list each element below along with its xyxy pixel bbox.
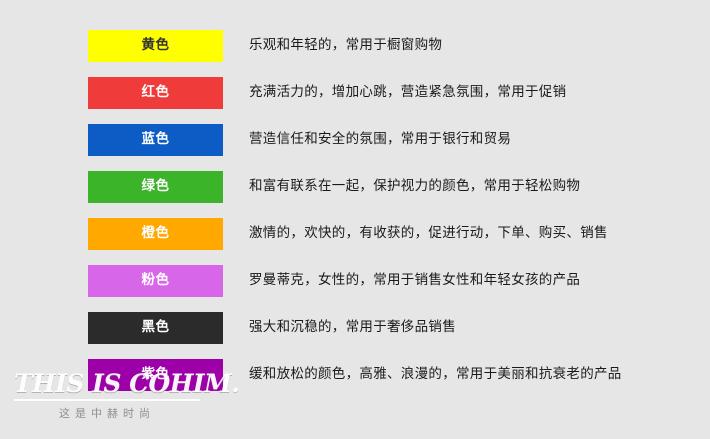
color-description: 营造信任和安全的氛围，常用于银行和贸易 [249,131,511,147]
color-swatch-green: 绿色 [88,171,223,203]
color-row: 绿色和富有联系在一起，保护视力的颜色，常用于轻松购物 [0,163,710,210]
color-swatch-blue: 蓝色 [88,124,223,156]
color-swatch-yellow: 黄色 [88,30,223,62]
color-swatch-red: 红色 [88,77,223,109]
color-description: 强大和沉稳的，常用于奢侈品销售 [249,319,456,335]
color-row: 红色充满活力的，增加心跳，营造紧急氛围，常用于促销 [0,69,710,116]
color-description: 和富有联系在一起，保护视力的颜色，常用于轻松购物 [249,178,580,194]
watermark-subtitle: 这是中赫时尚 [14,405,200,421]
watermark-divider [14,399,200,401]
color-meaning-list: 黄色乐观和年轻的，常用于橱窗购物红色充满活力的，增加心跳，营造紧急氛围，常用于促… [0,22,710,398]
color-description: 乐观和年轻的，常用于橱窗购物 [249,37,442,53]
color-swatch-label: 蓝色 [142,133,170,147]
color-row: 黑色强大和沉稳的，常用于奢侈品销售 [0,304,710,351]
color-row: 紫色缓和放松的颜色，高雅、浪漫的，常用于美丽和抗衰老的产品 [0,351,710,398]
color-swatch-label: 粉色 [142,274,170,288]
color-swatch-label: 橙色 [142,227,170,241]
color-swatch-black: 黑色 [88,312,223,344]
color-row: 黄色乐观和年轻的，常用于橱窗购物 [0,22,710,69]
color-row: 蓝色营造信任和安全的氛围，常用于银行和贸易 [0,116,710,163]
color-swatch-label: 黑色 [142,321,170,335]
color-row: 粉色罗曼蒂克，女性的，常用于销售女性和年轻女孩的产品 [0,257,710,304]
color-swatch-label: 红色 [142,86,170,100]
color-swatch-pink: 粉色 [88,265,223,297]
color-swatch-orange: 橙色 [88,218,223,250]
color-description: 罗曼蒂克，女性的，常用于销售女性和年轻女孩的产品 [249,272,580,288]
color-row: 橙色激情的，欢快的，有收获的，促进行动，下单、购买、销售 [0,210,710,257]
color-swatch-label: 紫色 [142,368,170,382]
color-description: 激情的，欢快的，有收获的，促进行动，下单、购买、销售 [249,225,608,241]
color-description: 充满活力的，增加心跳，营造紧急氛围，常用于促销 [249,84,566,100]
color-swatch-label: 黄色 [142,39,170,53]
color-description: 缓和放松的颜色，高雅、浪漫的，常用于美丽和抗衰老的产品 [249,366,622,382]
color-swatch-label: 绿色 [142,180,170,194]
slide-canvas: 黄色乐观和年轻的，常用于橱窗购物红色充满活力的，增加心跳，营造紧急氛围，常用于促… [0,0,710,439]
color-swatch-purple: 紫色 [88,359,223,391]
